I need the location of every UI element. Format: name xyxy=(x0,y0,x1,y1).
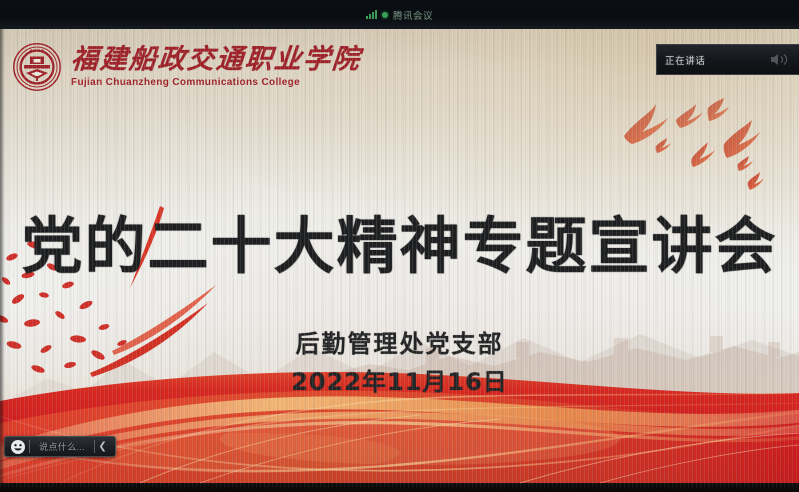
svg-text:★ ★ ★ ★: ★ ★ ★ ★ xyxy=(30,48,45,52)
app-name-label: 腾讯会议 xyxy=(393,8,433,22)
slide-subtitle: 后勤管理处党支部 xyxy=(0,324,799,359)
slide-title: 党的二十大精神专题宣讲会 xyxy=(0,196,799,285)
college-seal-icon: ★ ★ ★ ★ xyxy=(12,42,62,92)
chat-input-placeholder[interactable]: 说点什么... xyxy=(30,440,94,453)
screen-bottom-edge xyxy=(0,483,799,492)
emoji-smile-icon[interactable] xyxy=(10,439,26,455)
chat-input-bar[interactable]: 说点什么... ❮ xyxy=(4,436,116,457)
signal-strength-icon xyxy=(366,10,377,19)
meeting-topbar: 腾讯会议 xyxy=(0,0,799,29)
slide-date: 2022年11月16日 xyxy=(0,362,799,397)
college-branding-header: ★ ★ ★ ★ 福建船政交通职业学院 Fujian Chuanzheng Com… xyxy=(12,42,361,92)
speaking-now-panel[interactable]: 正在讲话 xyxy=(656,44,799,75)
chevron-left-icon[interactable]: ❮ xyxy=(95,442,112,452)
screenshot-root: 腾讯会议 xyxy=(0,0,799,492)
college-name-cn: 福建船政交通职业学院 xyxy=(70,46,362,73)
speaker-wave-icon xyxy=(769,53,791,66)
speaking-now-label: 正在讲话 xyxy=(665,53,705,67)
red-birds-decoration xyxy=(612,98,792,208)
projected-slide: ★ ★ ★ ★ 福建船政交通职业学院 Fujian Chuanzheng Com… xyxy=(0,28,799,483)
screen-left-edge xyxy=(0,28,5,483)
college-name-en: Fujian Chuanzheng Communications College xyxy=(71,78,361,88)
connection-status-dot xyxy=(382,12,388,18)
